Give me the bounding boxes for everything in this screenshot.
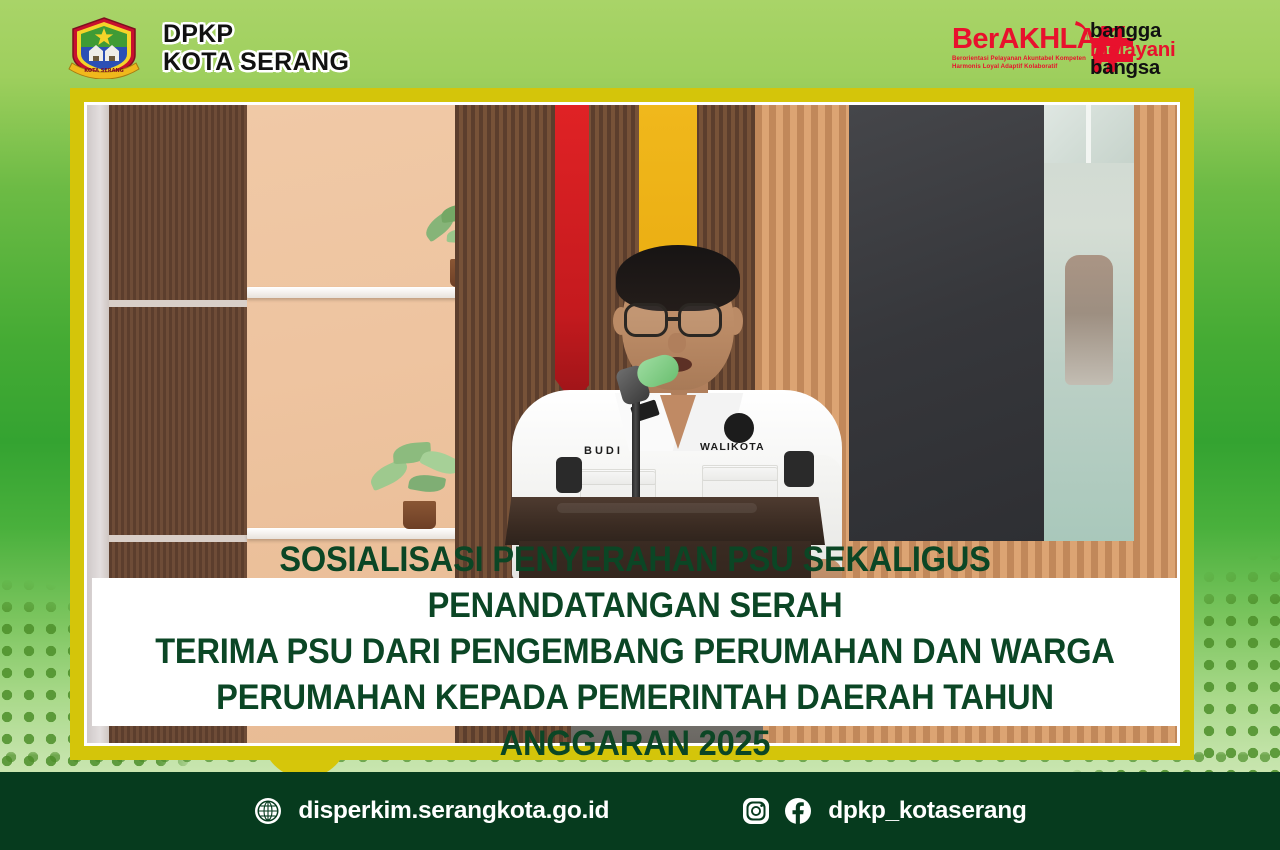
bangga-line-3: bangsa — [1090, 59, 1205, 78]
poster-title: SOSIALISASI PENYERAHAN PSU SEKALIGUS PEN… — [130, 537, 1140, 767]
svg-text:KOTA SERANG: KOTA SERANG — [84, 68, 124, 74]
uniform-title-tag-walikota: WALIKOTA — [700, 441, 786, 453]
berakhlak-wordmark: BerAKHLAK — [952, 24, 1092, 54]
berakhlak-logo: BerAKHLAK Berorientasi Pelayanan Akuntab… — [952, 24, 1092, 76]
berakhlak-tagline-line-2: Harmonis Loyal Adaptif Kolaboratif — [952, 63, 1092, 70]
brand-line-2: KOTA SERANG — [163, 48, 349, 76]
uniform-shoulder-patch — [784, 451, 814, 487]
poster-header: KOTA SERANG DPKP KOTA SERANG BerAKHLAK B… — [0, 0, 1280, 92]
dark-display-screen — [849, 105, 1044, 541]
website-contact[interactable]: disperkim.serangkota.go.id — [253, 796, 609, 826]
kota-serang-coat-of-arms-icon: KOTA SERANG — [68, 17, 140, 79]
panel-seam — [109, 300, 247, 307]
social-icon-group — [741, 796, 813, 826]
uniform-shoulder-patch — [556, 457, 582, 493]
globe-icon — [253, 796, 283, 826]
eyeglasses-lens-left — [624, 303, 668, 337]
instagram-icon[interactable] — [741, 796, 771, 826]
title-banner: SOSIALISASI PENYERAHAN PSU SEKALIGUS PEN… — [92, 578, 1178, 726]
uniform-nametag-budi: BUDI — [584, 445, 656, 457]
window-frame-bar — [1086, 105, 1091, 163]
facebook-icon[interactable] — [783, 796, 813, 826]
social-handle: dpkp_kotaserang — [828, 797, 1026, 825]
social-contact[interactable]: dpkp_kotaserang — [741, 796, 1026, 826]
brand-title: DPKP KOTA SERANG — [163, 20, 349, 76]
poster-canvas: KOTA SERANG DPKP KOTA SERANG BerAKHLAK B… — [0, 0, 1280, 850]
poster-footer: disperkim.serangkota.go.id dpkp_kotasera… — [0, 772, 1280, 850]
background-person — [1065, 255, 1113, 385]
eyeglasses-lens-right — [678, 303, 722, 337]
berakhlak-tagline-line-1: Berorientasi Pelayanan Akuntabel Kompete… — [952, 55, 1092, 62]
website-url: disperkim.serangkota.go.id — [298, 797, 609, 825]
bangga-melayani-bangsa-logo: bangga melayani bangsa — [1090, 22, 1205, 78]
uniform-emblem — [724, 413, 754, 443]
podium-highlight — [557, 503, 757, 513]
brand-line-1: DPKP — [163, 20, 349, 48]
